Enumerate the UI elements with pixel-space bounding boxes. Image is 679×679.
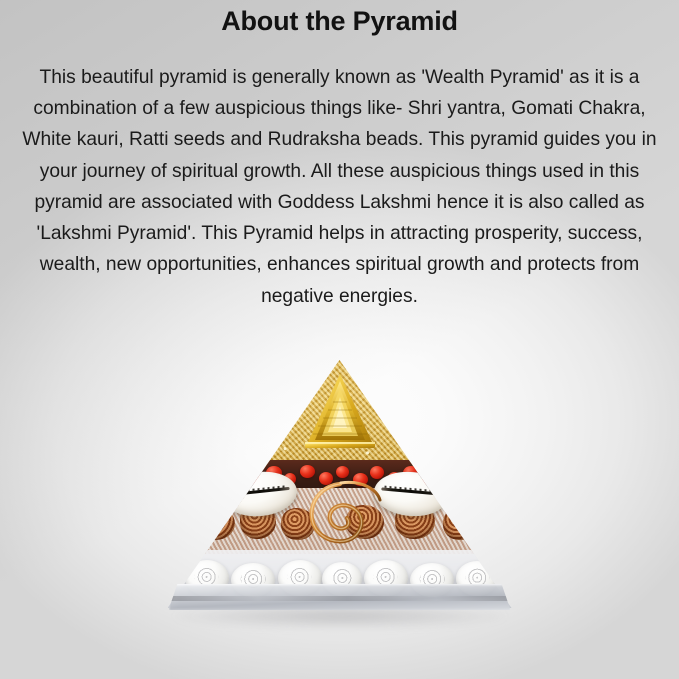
product-description-panel: About the Pyramid This beautiful pyramid… — [0, 0, 679, 679]
product-image — [0, 352, 679, 652]
resin-plinth — [169, 584, 511, 610]
cowrie-slit — [229, 487, 290, 496]
text-block: About the Pyramid This beautiful pyramid… — [0, 0, 679, 312]
pyramid-body — [168, 360, 512, 608]
shri-yantra-icon — [303, 372, 377, 450]
description-paragraph: This beautiful pyramid is generally know… — [4, 62, 675, 312]
copper-spiral-icon — [297, 478, 383, 558]
pyramid-stage — [158, 352, 522, 627]
cowrie-slit — [381, 488, 442, 496]
page-title: About the Pyramid — [4, 4, 675, 40]
